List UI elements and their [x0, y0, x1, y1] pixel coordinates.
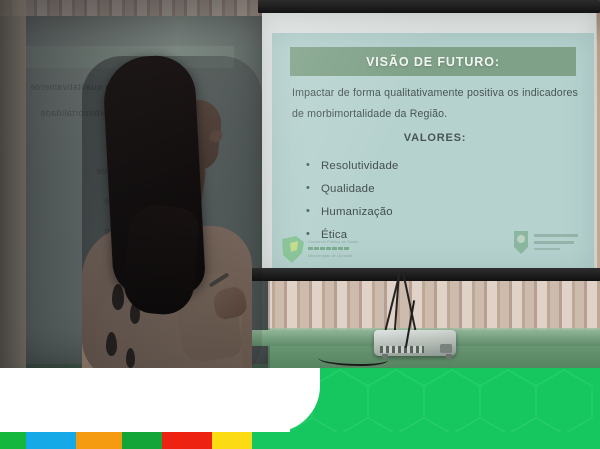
- screen-surface: VISÃO DE FUTURO: Impactar de forma quali…: [262, 13, 596, 271]
- color-segment-green-1: [0, 432, 26, 449]
- slide-paragraph: Impactar de forma qualitativamente posit…: [292, 83, 578, 125]
- list-item: Humanização: [306, 201, 578, 224]
- footer-branding-bar: Consórcio Público de Saúde Microrregião …: [0, 368, 600, 449]
- color-segment-green-2: [122, 432, 162, 449]
- color-segment-red: [162, 432, 212, 449]
- projector-foot: [382, 354, 388, 359]
- color-segment-yellow: [212, 432, 252, 449]
- screen-bottom-bar: [246, 268, 600, 281]
- footer-white-curve: [0, 368, 320, 432]
- projection-screen: VISÃO DE FUTURO: Impactar de forma quali…: [258, 0, 600, 292]
- projected-slide: VISÃO DE FUTURO: Impactar de forma quali…: [272, 33, 594, 271]
- screen-top-bar: [258, 0, 600, 13]
- presenter-hair-strands: [121, 203, 200, 317]
- sweater-embroidery: [126, 348, 135, 368]
- slide-title: VISÃO DE FUTURO:: [366, 55, 500, 69]
- sweater-embroidery: [112, 284, 124, 310]
- list-item: Qualidade: [306, 178, 578, 201]
- slide-watermark-cpsmq: Consórcio Público de Saúde Microrregião …: [278, 231, 358, 269]
- projector-lens: [440, 344, 452, 353]
- screenshot-root: Impactar de forma qualitativamente indic…: [0, 0, 600, 449]
- slide-subheading: VALORES:: [292, 132, 578, 144]
- footer-color-bar: [0, 432, 600, 449]
- presentation-photo: Impactar de forma qualitativamente indic…: [0, 0, 600, 380]
- svg-text:Consórcio Público de Saúde: Consórcio Público de Saúde: [308, 240, 358, 244]
- color-segment-blue: [26, 432, 76, 449]
- sweater-embroidery: [106, 332, 117, 356]
- wall-edge: [0, 0, 26, 380]
- color-segment-orange: [76, 432, 122, 449]
- color-segment-green-3: [252, 432, 600, 449]
- list-item: Resolutividade: [306, 155, 578, 178]
- projector-foot: [446, 354, 452, 359]
- presenter: [82, 56, 262, 380]
- slide-header-band: VISÃO DE FUTURO:: [290, 47, 576, 76]
- svg-text:Microrregião de Quixadá: Microrregião de Quixadá: [308, 254, 352, 258]
- slide-watermark-government: [506, 223, 584, 263]
